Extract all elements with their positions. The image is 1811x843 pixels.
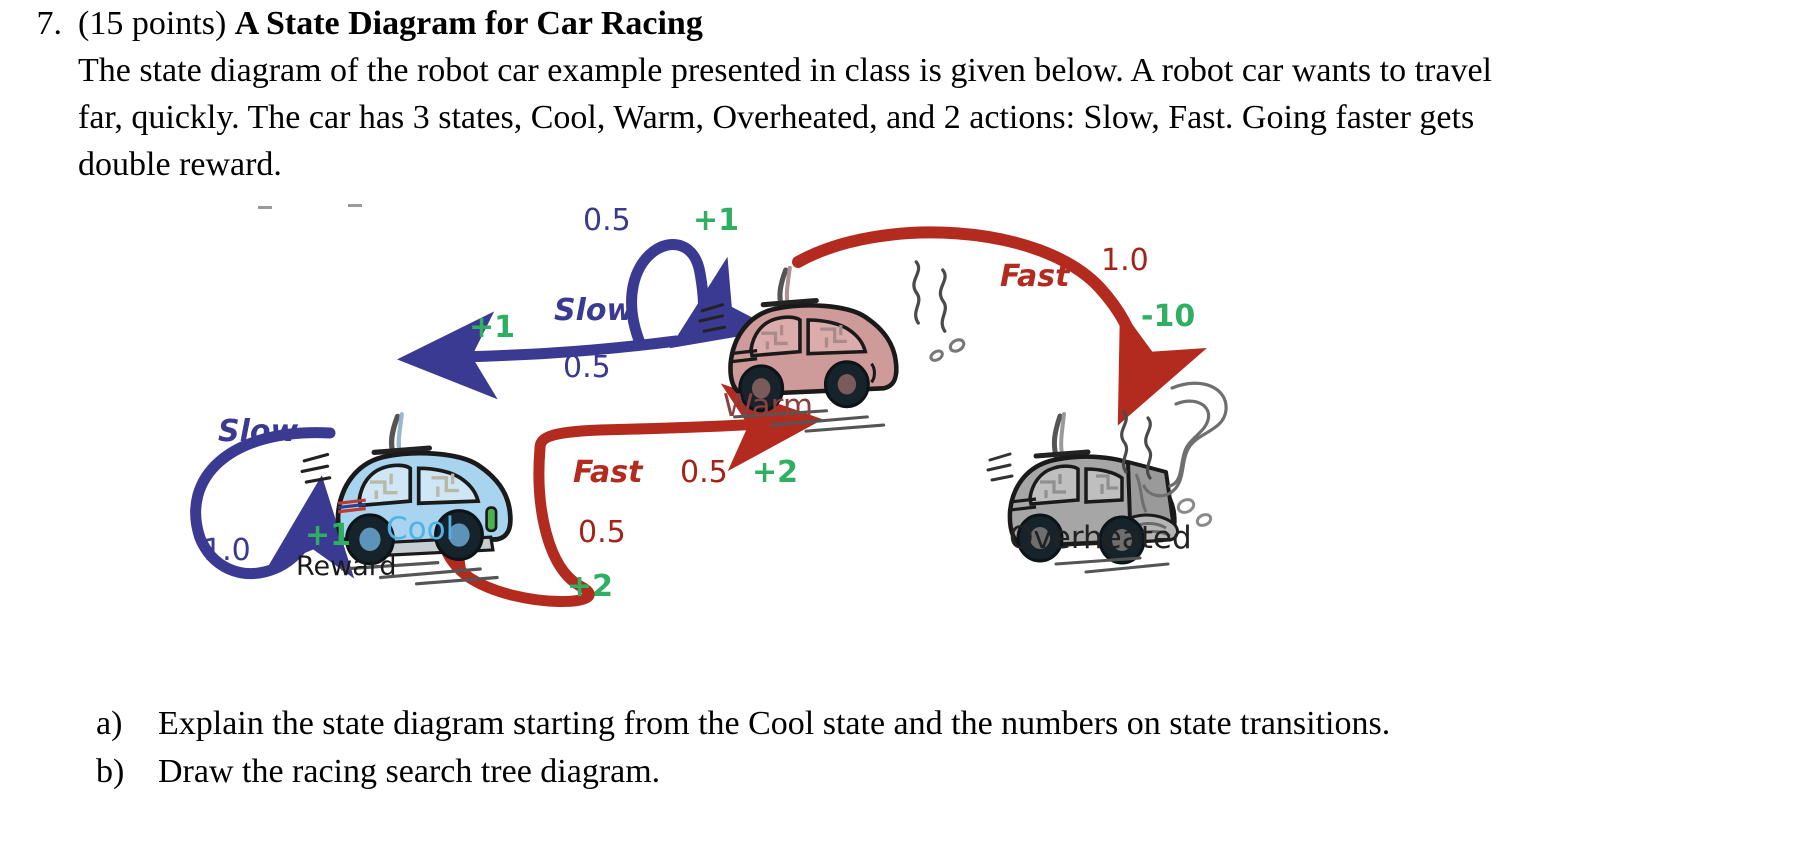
label-warm-fast-prob: 1.0 [1101,246,1149,276]
label-warm-to-cool-prob: 0.5 [563,353,611,383]
edge-warm-slow-warm [632,244,704,343]
question-body: (15 points) A State Diagram for Car Raci… [78,0,1811,188]
label-reward-legend: Reward [296,553,397,580]
subquestion-b-text: Draw the racing search tree diagram. [158,748,1596,796]
heat-wiggle-icon [914,262,945,331]
state-label-warm: Warm [723,391,813,422]
page-title: A State Diagram for Car Racing [235,5,703,42]
question-number: 7. [0,0,78,47]
state-label-overheated: Overheated [1009,523,1192,554]
label-warm-fast-action: Fast [1000,262,1070,292]
subquestion-a-text: Explain the state diagram starting from … [158,700,1596,748]
subquestion-list: a) Explain the state diagram starting fr… [96,700,1596,796]
question-heading-row: 7. (15 points) A State Diagram for Car R… [0,0,1811,188]
label-warm-loop-prob: 0.5 [583,206,631,236]
state-diagram: 0.5 +1 Slow +1 0.5 Slow 1.0 +1 Reward Co… [0,178,1811,698]
subquestion-b: b) Draw the racing search tree diagram. [96,748,1596,796]
label-warm-to-cool-reward: +1 [469,313,515,343]
label-cool-loop-prob: 1.0 [203,536,251,566]
state-label-cool: Cool [386,514,454,545]
subquestion-a: a) Explain the state diagram starting fr… [96,700,1596,748]
label-warm-slow-action: Slow [554,296,634,326]
question-paragraph: The state diagram of the robot car examp… [78,47,1508,188]
label-cool-loop-reward: +1 [305,521,351,551]
question-title-line: (15 points) A State Diagram for Car Raci… [78,0,1531,47]
label-warm-loop-reward: +1 [693,206,739,236]
edge-warm-slow-cool [430,341,676,358]
stray-tick-left [258,206,272,209]
subquestion-a-label: a) [96,700,158,748]
label-cool-slow-action: Slow [218,417,298,447]
subquestion-b-label: b) [96,748,158,796]
label-cool-fast-action: Fast [573,458,643,488]
question-points: (15 points) [78,5,226,42]
label-warm-fast-reward: -10 [1141,302,1195,332]
edge-cool-fast-warm [540,422,790,448]
label-cool-fast-cool-prob: 0.5 [578,518,626,548]
label-cool-fast-warm-prob: 0.5 [680,458,728,488]
label-cool-fast-warm-reward: +2 [752,458,798,488]
label-cool-fast-cool-reward: +2 [567,572,613,602]
stray-tick-right [348,204,362,207]
question-block: 7. (15 points) A State Diagram for Car R… [0,0,1811,188]
